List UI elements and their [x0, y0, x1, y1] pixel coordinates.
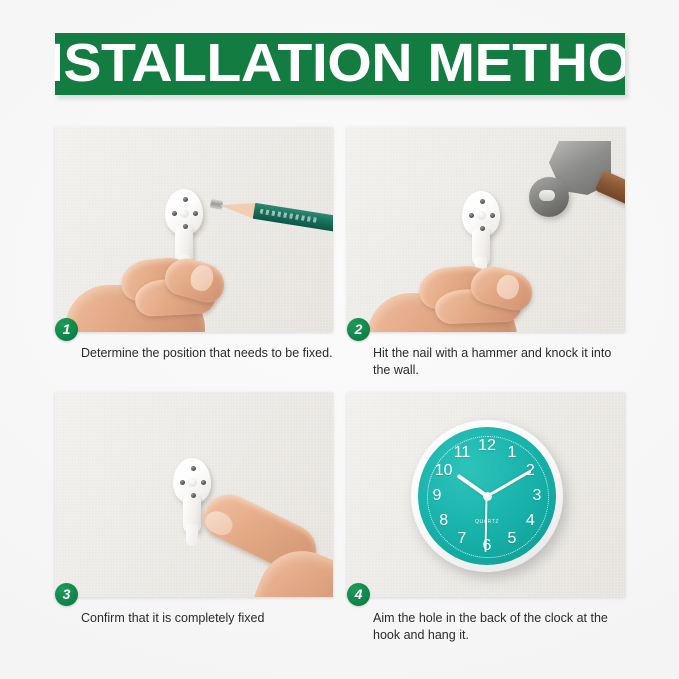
hand	[367, 267, 567, 332]
step-photo-4: 121234567891011 QUARTZ	[347, 392, 625, 597]
clock-numeral-3: 3	[527, 488, 547, 504]
step-badge-2: 2	[347, 318, 370, 341]
step-caption-3: Confirm that it is completely fixed	[81, 610, 333, 627]
step-card-1: 1 Determine the position that needs to b…	[55, 127, 333, 392]
infographic-page: INSTALLATION METHOD	[0, 0, 679, 679]
hammer	[523, 133, 625, 233]
wall-clock: 121234567891011 QUARTZ	[411, 420, 563, 572]
header-banner: INSTALLATION METHOD	[55, 33, 625, 95]
step-photo-1	[55, 127, 333, 332]
step-badge-4: 4	[347, 583, 370, 606]
step-badge-3: 3	[55, 583, 78, 606]
step-caption-1: Determine the position that needs to be …	[81, 345, 333, 362]
clock-numeral-12: 12	[477, 438, 497, 454]
step-card-4: 121234567891011 QUARTZ 4 Aim the hole in…	[347, 392, 625, 657]
clock-numeral-9: 9	[427, 488, 447, 504]
steps-grid: 1 Determine the position that needs to b…	[55, 127, 625, 647]
clock-numeral-6: 6	[477, 538, 497, 554]
clock-numeral-5: 5	[502, 531, 522, 547]
step-photo-2	[347, 127, 625, 332]
page-title: INSTALLATION METHOD	[55, 36, 625, 90]
step-card-2: 2 Hit the nail with a hammer and knock i…	[347, 127, 625, 392]
clock-numeral-10: 10	[434, 463, 454, 479]
clock-numeral-11: 11	[452, 445, 472, 461]
step-badge-1: 1	[55, 318, 78, 341]
step-caption-4: Aim the hole in the back of the clock at…	[373, 610, 625, 644]
hand	[65, 259, 255, 332]
pointing-finger	[201, 510, 333, 597]
clock-center-cap	[483, 492, 492, 501]
step-photo-3	[55, 392, 333, 597]
step-caption-2: Hit the nail with a hammer and knock it …	[373, 345, 625, 379]
clock-numeral-1: 1	[502, 445, 522, 461]
clock-numeral-7: 7	[452, 531, 472, 547]
clock-face: 121234567891011 QUARTZ	[418, 427, 556, 565]
header-banner-wrap: INSTALLATION METHOD	[55, 33, 625, 95]
step-card-3: 3 Confirm that it is completely fixed	[55, 392, 333, 657]
